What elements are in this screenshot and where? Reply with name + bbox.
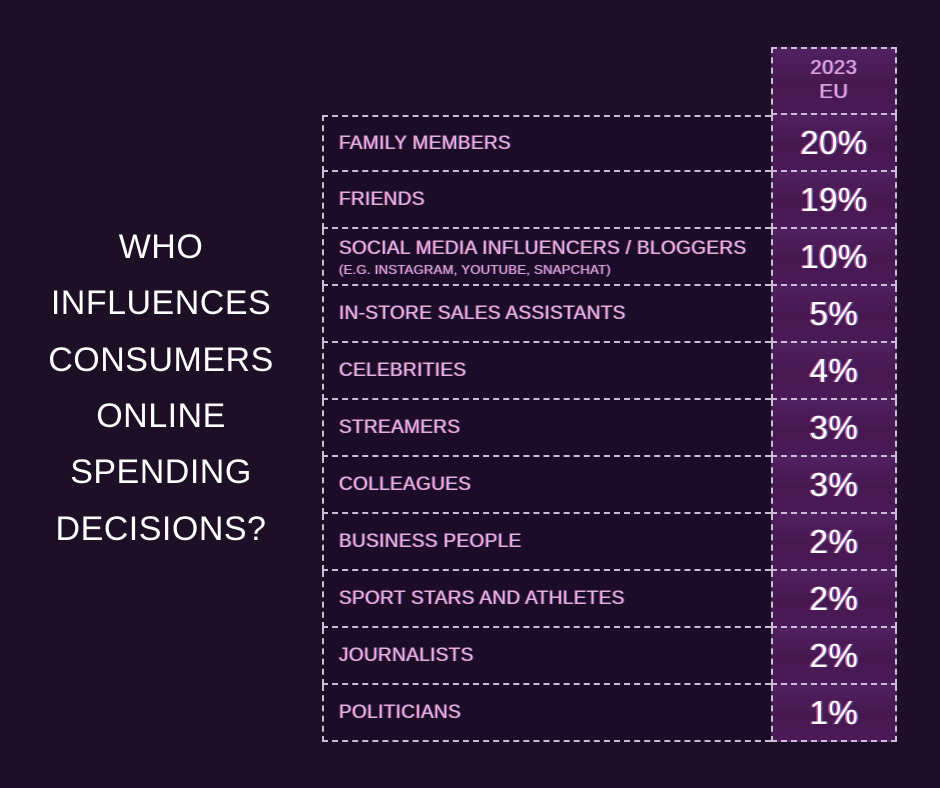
row-label: BUSINESS PEOPLE bbox=[339, 531, 771, 553]
row-label-cell: STREAMERS bbox=[322, 400, 771, 457]
row-label: FRIENDS bbox=[339, 189, 771, 211]
influences-table: 2023 EU FAMILY MEMBERS 20% FRIENDS 19% S… bbox=[322, 47, 897, 742]
table-row: COLLEAGUES 3% bbox=[322, 457, 897, 514]
table-row: IN-STORE SALES ASSISTANTS 5% bbox=[322, 286, 897, 343]
row-value-cell: 4% bbox=[771, 343, 897, 400]
headline-line: SPENDING bbox=[48, 444, 274, 500]
headline-line: WHO bbox=[48, 219, 274, 275]
header-year: 2023 bbox=[811, 57, 858, 81]
row-sublabel: (E.G. INSTAGRAM, YOUTUBE, SNAPCHAT) bbox=[339, 262, 771, 277]
table-row: FRIENDS 19% bbox=[322, 172, 897, 229]
header-region: EU bbox=[820, 81, 849, 105]
row-label-cell: POLITICIANS bbox=[322, 685, 771, 742]
row-value-cell: 3% bbox=[771, 400, 897, 457]
row-label-cell: IN-STORE SALES ASSISTANTS bbox=[322, 286, 771, 343]
table-row: JOURNALISTS 2% bbox=[322, 628, 897, 685]
infographic-root: WHO INFLUENCES CONSUMERS ONLINE SPENDING… bbox=[0, 0, 940, 788]
row-label: SOCIAL MEDIA INFLUENCERS / BLOGGERS bbox=[339, 238, 771, 260]
headline-line: ONLINE bbox=[48, 388, 274, 444]
row-value-cell: 2% bbox=[771, 628, 897, 685]
headline-pane: WHO INFLUENCES CONSUMERS ONLINE SPENDING… bbox=[0, 0, 322, 788]
row-label-cell: BUSINESS PEOPLE bbox=[322, 514, 771, 571]
row-label-cell: COLLEAGUES bbox=[322, 457, 771, 514]
headline-line: INFLUENCES bbox=[48, 275, 274, 331]
row-value-cell: 2% bbox=[771, 514, 897, 571]
table-row: STREAMERS 3% bbox=[322, 400, 897, 457]
row-value-cell: 20% bbox=[771, 115, 897, 172]
row-label-cell: FAMILY MEMBERS bbox=[322, 115, 771, 172]
page-title: WHO INFLUENCES CONSUMERS ONLINE SPENDING… bbox=[48, 219, 274, 570]
row-label-cell: JOURNALISTS bbox=[322, 628, 771, 685]
table-row: FAMILY MEMBERS 20% bbox=[322, 115, 897, 172]
table-row: POLITICIANS 1% bbox=[322, 685, 897, 742]
row-label: CELEBRITIES bbox=[339, 360, 771, 382]
row-value-cell: 5% bbox=[771, 286, 897, 343]
table-row: SPORT STARS AND ATHLETES 2% bbox=[322, 571, 897, 628]
table-row: SOCIAL MEDIA INFLUENCERS / BLOGGERS (E.G… bbox=[322, 229, 897, 286]
row-label-cell: SPORT STARS AND ATHLETES bbox=[322, 571, 771, 628]
row-label-cell: FRIENDS bbox=[322, 172, 771, 229]
row-value-cell: 1% bbox=[771, 685, 897, 742]
row-value-cell: 19% bbox=[771, 172, 897, 229]
row-label: COLLEAGUES bbox=[339, 474, 771, 496]
header-value-cell: 2023 EU bbox=[771, 47, 897, 115]
table-row: CELEBRITIES 4% bbox=[322, 343, 897, 400]
row-label: JOURNALISTS bbox=[339, 645, 771, 667]
row-label: SPORT STARS AND ATHLETES bbox=[339, 588, 771, 610]
row-label: STREAMERS bbox=[339, 417, 771, 439]
header-label-cell bbox=[322, 47, 771, 115]
row-label-cell: SOCIAL MEDIA INFLUENCERS / BLOGGERS (E.G… bbox=[322, 229, 771, 286]
headline-line: DECISIONS? bbox=[48, 501, 274, 557]
row-label: FAMILY MEMBERS bbox=[339, 133, 771, 155]
row-label-cell: CELEBRITIES bbox=[322, 343, 771, 400]
headline-line: CONSUMERS bbox=[48, 332, 274, 388]
row-value-cell: 10% bbox=[771, 229, 897, 286]
row-value-cell: 2% bbox=[771, 571, 897, 628]
table-pane: 2023 EU FAMILY MEMBERS 20% FRIENDS 19% S… bbox=[322, 0, 940, 788]
row-label: POLITICIANS bbox=[339, 702, 771, 724]
table-row: BUSINESS PEOPLE 2% bbox=[322, 514, 897, 571]
table-header-row: 2023 EU bbox=[322, 47, 897, 115]
row-label: IN-STORE SALES ASSISTANTS bbox=[339, 303, 771, 325]
row-value-cell: 3% bbox=[771, 457, 897, 514]
